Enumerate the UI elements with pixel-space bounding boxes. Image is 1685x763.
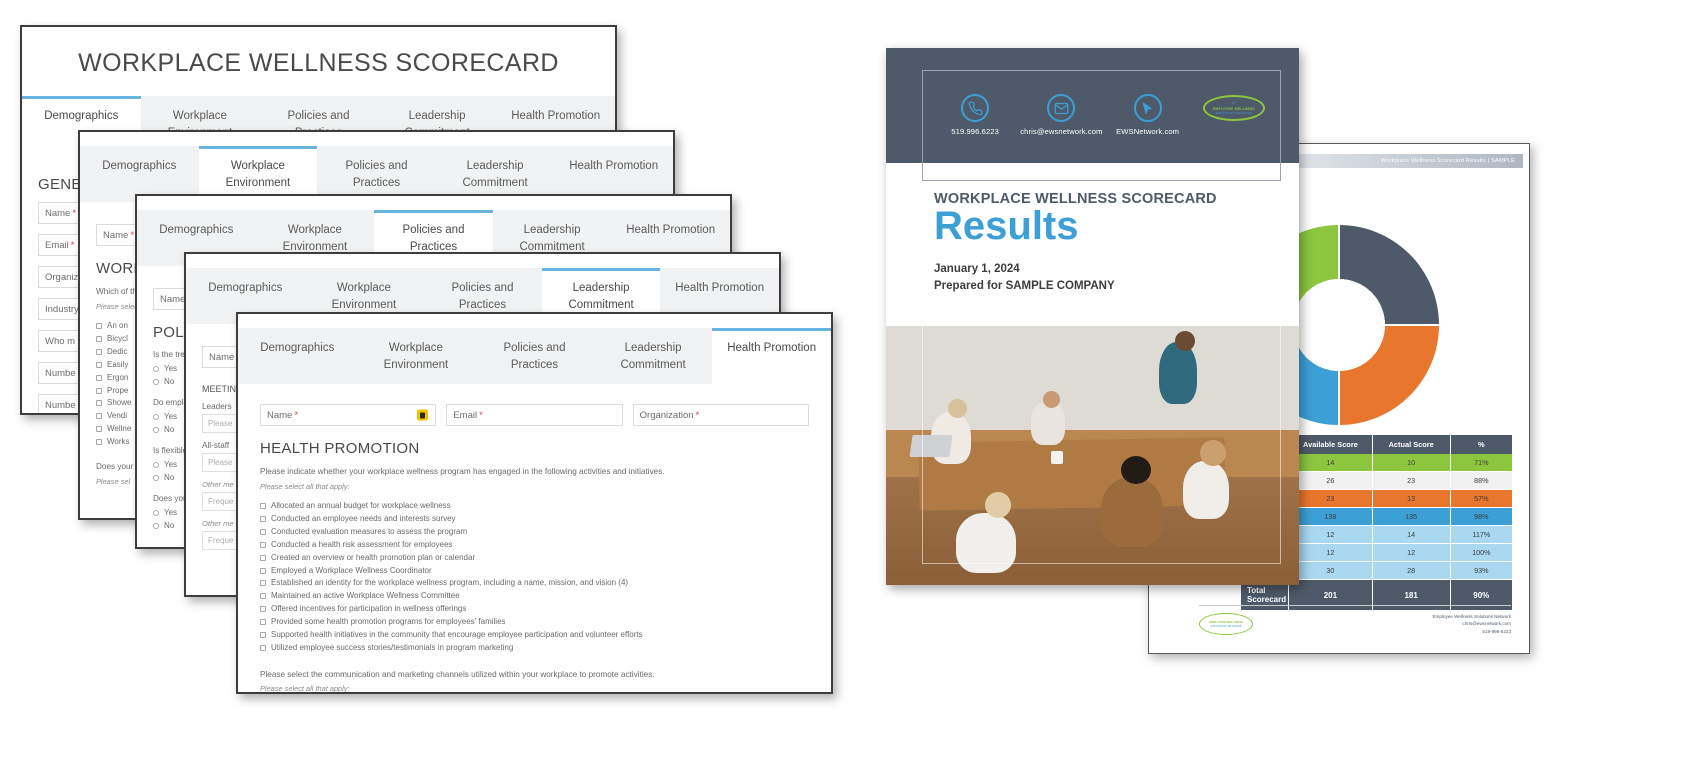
tab-policies-and-practices[interactable]: Policies and Practices [475,328,594,384]
cell-percent: 71% [1450,454,1512,472]
list-item[interactable]: Allocated an annual budget for workplace… [260,500,809,513]
radio-icon[interactable] [153,366,159,372]
contact-website-text: EWSNetwork.com [1105,127,1191,136]
cover-contact-row: 519.996.6223 chris@ewsnetwork.com [932,94,1277,136]
footer-divider [1199,605,1511,606]
footer-phone: 519-996-6223 [1432,628,1511,635]
checkbox-icon[interactable] [260,503,266,509]
cover-prepared-for: Prepared for SAMPLE COMPANY [934,278,1299,295]
results-cover-page[interactable]: 519.996.6223 chris@ewsnetwork.com [886,48,1299,585]
results-banner-text: Workplace Wellness Scorecard Results | S… [1381,158,1515,164]
health-intro-hint: Please select all that apply: [260,481,809,492]
logo-line-2: SOLUTIONS NETWORK [1215,111,1252,115]
cell-percent: 88% [1450,472,1512,490]
checkbox-icon[interactable] [96,413,102,419]
cover-date: January 1, 2024 [934,261,1299,278]
list-item[interactable]: Conducted an employee needs and interest… [260,513,809,526]
radio-icon[interactable] [153,427,159,433]
required-asterisk: * [130,230,134,241]
checkbox-icon[interactable] [260,568,266,574]
checkbox-icon[interactable] [96,388,102,394]
radio-icon[interactable] [153,475,159,481]
checkbox-icon[interactable] [260,580,266,586]
footer-email: chris@ewsnetwork.com [1432,620,1511,627]
footer-company: Employee Wellness Solutions Network [1432,613,1511,620]
required-asterisk: * [294,410,298,421]
checkbox-icon[interactable] [260,619,266,625]
checkbox-icon[interactable] [260,606,266,612]
checkbox-icon[interactable] [96,349,102,355]
logo-line-2: SOLUTIONS NETWORK [1210,624,1241,628]
cover-photo [886,326,1299,585]
cell-available: 26 [1289,472,1373,490]
cell-available: 30 [1289,562,1373,580]
results-footer: EMPLOYEE WELLNESS SOLUTIONS NETWORK Empl… [1199,605,1511,635]
tab-leadership-commitment[interactable]: Leadership Commitment [594,328,713,384]
cell-percent: 117% [1450,526,1512,544]
card-body-health-promotion: Name* Email* Organization* HEALTH PROMOT… [238,384,831,694]
cell-actual: 13 [1372,490,1450,508]
form-card-health-promotion[interactable]: Demographics Workplace Environment Polic… [236,312,833,694]
cover-title: Results [934,205,1299,247]
cover-brand-logo: ✓ EMPLOYEE WELLNESS SOLUTIONS NETWORK [1191,94,1277,121]
health-intro-text: Please indicate whether your workplace w… [260,466,809,478]
contact-email[interactable]: chris@ewsnetwork.com [1018,94,1104,136]
tab-demographics[interactable]: Demographics [238,328,357,384]
tab-health-promotion[interactable]: Health Promotion [712,328,831,384]
cell-percent: 98% [1450,508,1512,526]
cell-available: 12 [1289,544,1373,562]
cursor-icon [1134,94,1162,122]
contact-phone[interactable]: 519.996.6223 [932,94,1018,136]
col-header-available-score: Available Score [1289,435,1373,454]
list-item[interactable]: Supported health initiatives in the comm… [260,629,809,642]
email-field[interactable]: Email* [446,404,622,426]
radio-icon[interactable] [153,414,159,420]
checkbox-icon[interactable] [96,336,102,342]
checkbox-group-health-promotion[interactable]: Allocated an annual budget for workplace… [260,500,809,655]
contact-fields-row: Name* Email* Organization* [260,404,809,426]
list-item[interactable]: Maintained an active Workplace Wellness … [260,590,809,603]
screenshot-canvas: WORKPLACE WELLNESS SCORECARD Demographic… [0,0,1685,763]
name-field[interactable]: Name* [260,404,436,426]
checkbox-icon[interactable] [260,516,266,522]
photo-border-frame [922,326,1281,564]
contact-phone-text: 519.996.6223 [932,127,1018,136]
radio-icon[interactable] [153,510,159,516]
radio-icon[interactable] [153,523,159,529]
cell-percent: 100% [1450,544,1512,562]
email-icon [1047,94,1075,122]
cell-actual: 12 [1372,544,1450,562]
required-asterisk: * [479,410,483,421]
tabbar[interactable]: Demographics Workplace Environment Polic… [238,328,831,384]
cell-actual: 23 [1372,472,1450,490]
contact-email-text: chris@ewsnetwork.com [1018,127,1104,136]
radio-icon[interactable] [153,379,159,385]
list-item[interactable]: Employed a Workplace Wellness Coordinato… [260,565,809,578]
required-asterisk: * [72,208,76,219]
list-item[interactable]: Conducted a health risk assessment for e… [260,539,809,552]
cover-title-block: WORKPLACE WELLNESS SCORECARD Results Jan… [886,163,1299,294]
tab-workplace-environment[interactable]: Workplace Environment [357,328,476,384]
checkbox-icon[interactable] [96,323,102,329]
checkbox-icon[interactable] [260,645,266,651]
checkbox-icon[interactable] [260,529,266,535]
cell-actual: 135 [1372,508,1450,526]
list-item[interactable]: Provided some health promotion programs … [260,616,809,629]
ews-logo-icon: EMPLOYEE WELLNESS SOLUTIONS NETWORK [1199,613,1253,635]
checkbox-icon[interactable] [260,593,266,599]
list-item[interactable]: Offered incentives for participation in … [260,603,809,616]
phone-icon [961,94,989,122]
cover-header-band: 519.996.6223 chris@ewsnetwork.com [886,48,1299,163]
cell-percent: 93% [1450,562,1512,580]
cover-date-line: January 1, 2024 Prepared for SAMPLE COMP… [934,261,1299,294]
health-intro-hint-2: Please select all that apply: [260,683,809,694]
checkbox-icon[interactable] [96,400,102,406]
checkbox-icon[interactable] [260,632,266,638]
list-item[interactable]: Established an identity for the workplac… [260,577,809,590]
col-header-actual-score: Actual Score [1372,435,1450,454]
footer-contact-block: Employee Wellness Solutions Network chri… [1432,613,1511,635]
list-item[interactable]: Utilized employee success stories/testim… [260,642,809,655]
lock-icon [417,410,428,421]
organization-field[interactable]: Organization* [633,404,809,426]
cell-actual: 28 [1372,562,1450,580]
cell-percent: 57% [1450,490,1512,508]
cell-available: 12 [1289,526,1373,544]
ews-logo-icon: ✓ EMPLOYEE WELLNESS SOLUTIONS NETWORK [1203,95,1265,121]
required-asterisk: * [71,240,75,251]
list-item[interactable]: Created an overview or health promotion … [260,552,809,565]
health-intro-text-2: Please select the communication and mark… [260,669,809,681]
col-header-percent: % [1450,435,1512,454]
checkbox-icon[interactable] [96,439,102,445]
list-item[interactable]: Conducted evaluation measures to assess … [260,526,809,539]
cell-available: 138 [1289,508,1373,526]
cell-actual: 14 [1372,526,1450,544]
checkbox-icon[interactable] [96,426,102,432]
page-title: WORKPLACE WELLNESS SCORECARD [22,27,615,78]
required-asterisk: * [696,410,700,421]
cell-available: 23 [1289,490,1373,508]
radio-icon[interactable] [153,462,159,468]
cell-actual: 10 [1372,454,1450,472]
cell-available: 14 [1289,454,1373,472]
checkbox-icon[interactable] [260,555,266,561]
checkbox-icon[interactable] [96,375,102,381]
section-heading-health-promotion: HEALTH PROMOTION [260,440,809,457]
contact-website[interactable]: EWSNetwork.com [1105,94,1191,136]
checkbox-icon[interactable] [96,362,102,368]
checkbox-icon[interactable] [260,542,266,548]
